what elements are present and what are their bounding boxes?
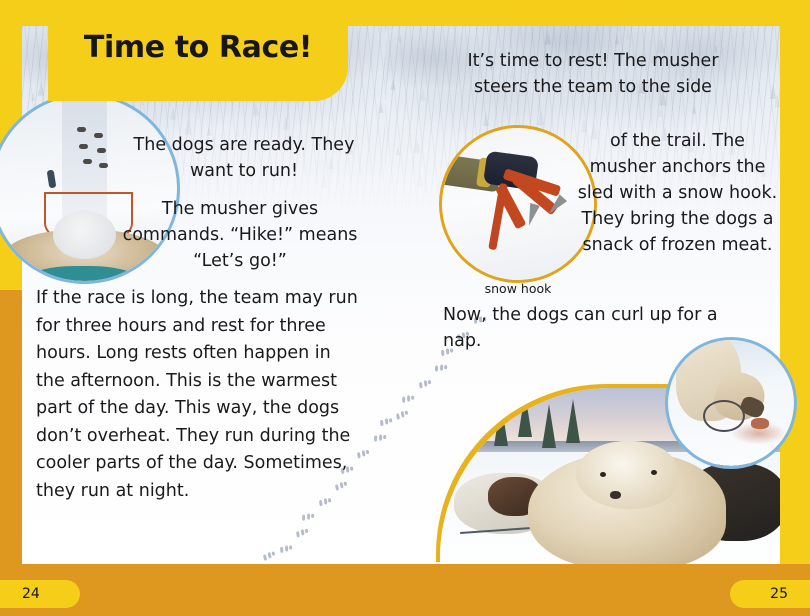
dog-eating-snack-photo xyxy=(668,340,794,466)
paragraph-time-to-rest: It’s time to rest! The musher steers the… xyxy=(443,48,743,100)
page-number-left: 24 xyxy=(0,580,80,608)
border-right xyxy=(780,0,810,566)
book-page-spread: Time to Race! The dogs are ready. They w… xyxy=(0,0,810,616)
border-left-lower xyxy=(0,290,22,570)
paragraph-curl-up: Now, the dogs can curl up for a nap. xyxy=(443,302,743,354)
footer-bar xyxy=(0,564,810,616)
paragraph-race-long: If the race is long, the team may run fo… xyxy=(36,285,362,505)
paragraph-musher-anchors: of the trail. The musher anchors the sle… xyxy=(575,128,780,258)
paragraph-musher-commands: The musher gives commands. “Hike!” means… xyxy=(120,196,360,274)
paragraph-dogs-ready: The dogs are ready. They want to run! xyxy=(128,132,360,184)
snow-hook-photo xyxy=(442,128,594,280)
chapter-title-banner: Time to Race! xyxy=(48,0,348,101)
page-number-right: 25 xyxy=(730,580,810,608)
snow-hook-caption: snow hook xyxy=(442,281,594,296)
page-title: Time to Race! xyxy=(84,30,312,71)
